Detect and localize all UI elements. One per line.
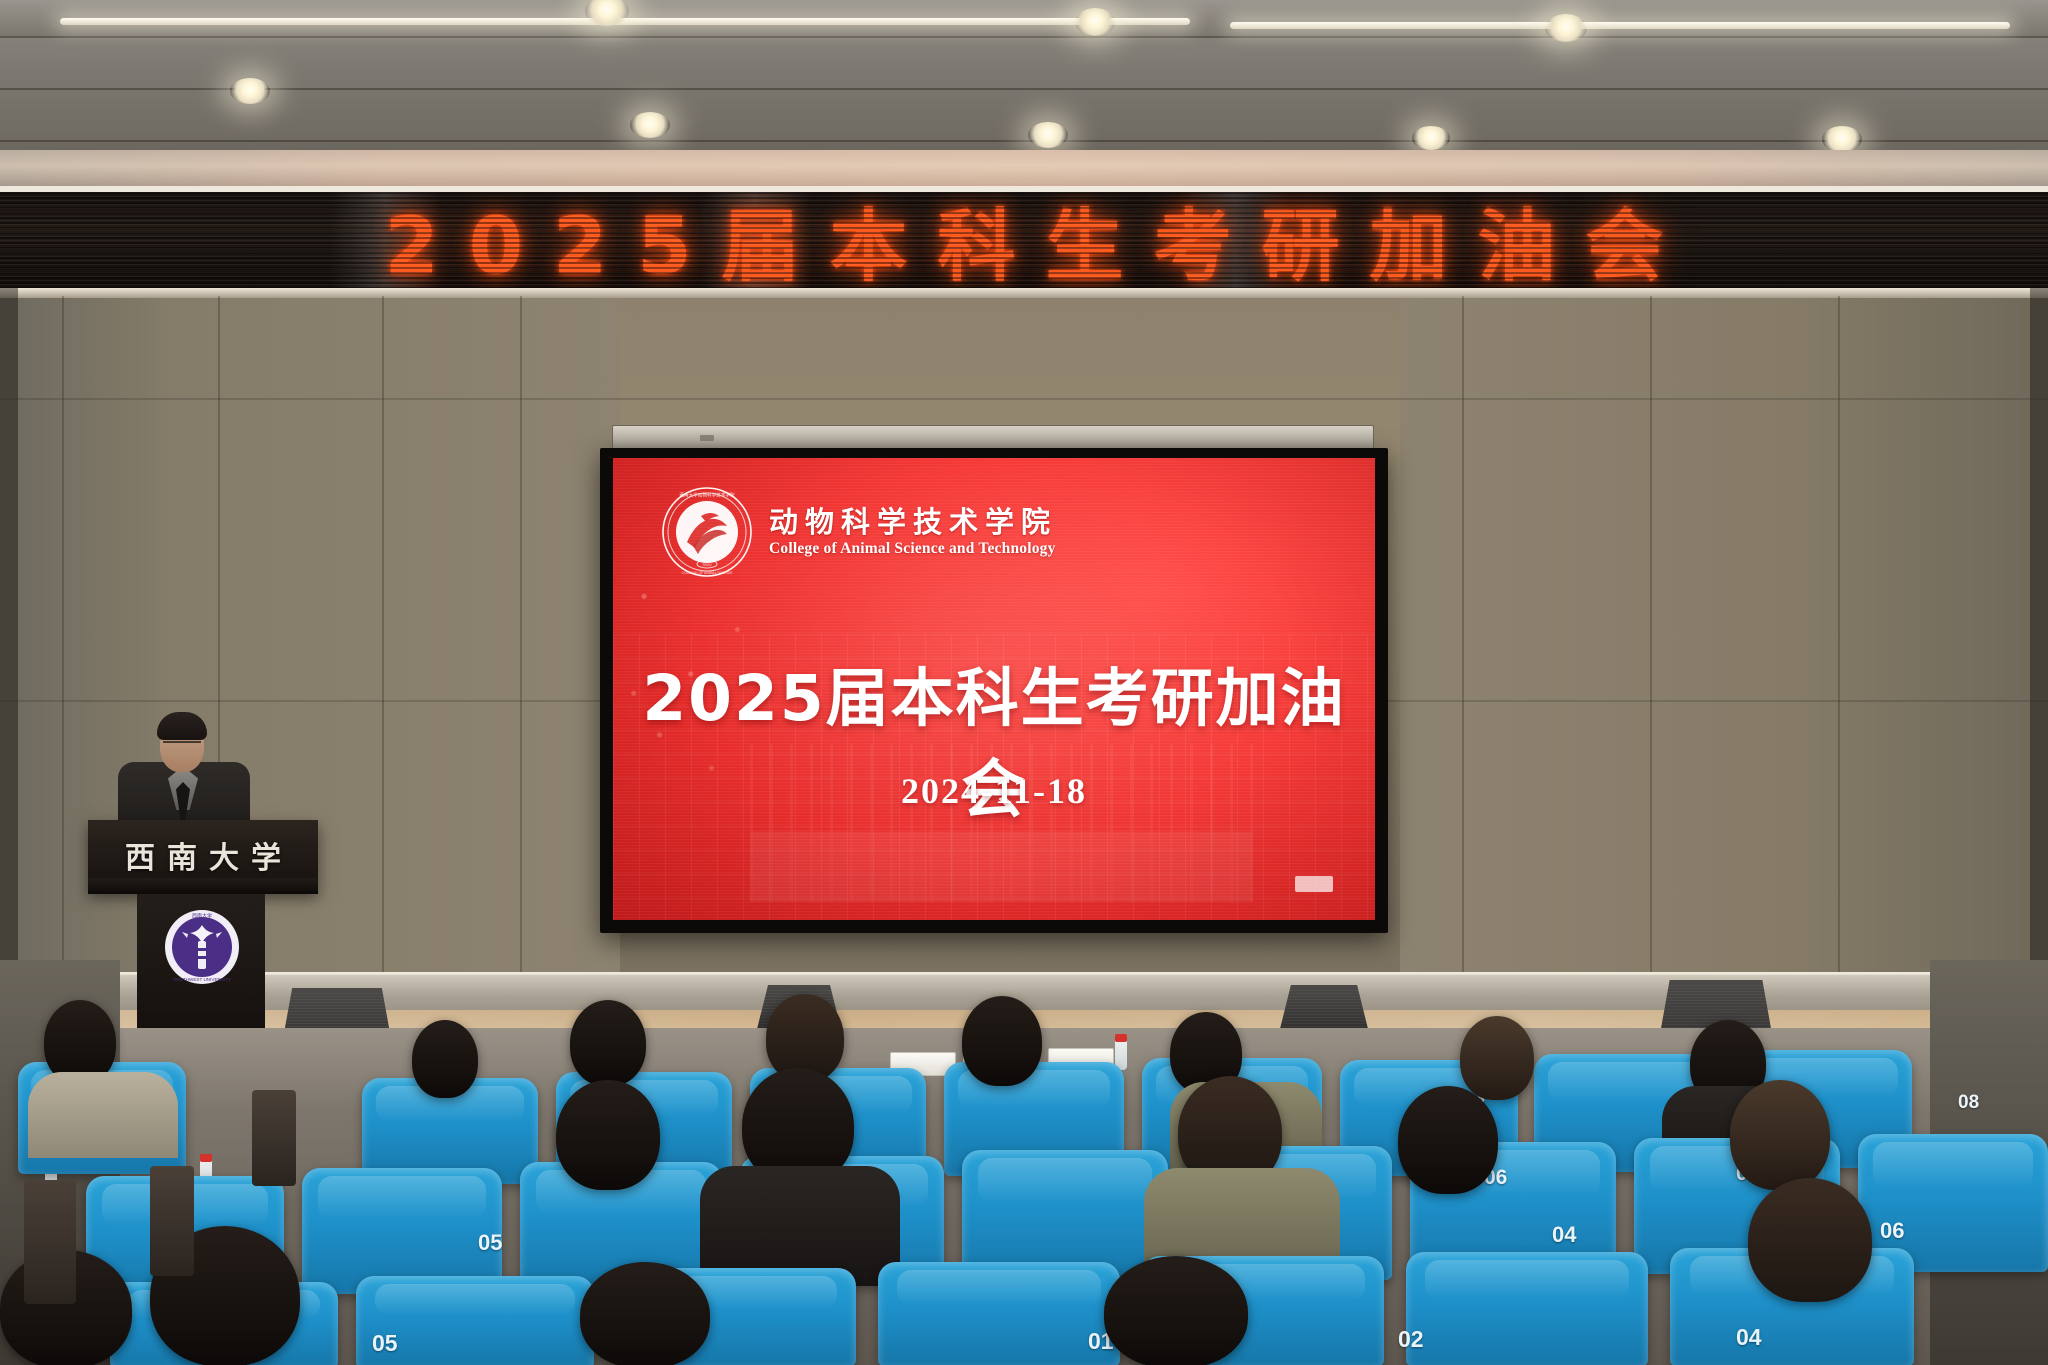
wall-edge-left [0,288,18,988]
audience-head [1398,1086,1498,1194]
seat-divider [150,1166,194,1276]
led-sheen-1 [330,192,440,288]
seat-divider [24,1180,76,1304]
slide-date: 2024-11-18 [613,770,1375,812]
led-scanlines [0,192,2048,288]
podium-top-face [88,878,318,894]
wall-h-line-1 [0,398,2048,400]
ceiling-seam-1 [0,36,2048,38]
svg-text:COLLEGE OF ANIMAL SCIENCE: COLLEGE OF ANIMAL SCIENCE [682,571,734,575]
university-seal-icon: 西南大学 SOUTHWEST UNIVERSITY [163,908,241,986]
audience-shoulders [28,1072,178,1158]
college-name-block: 动物科学技术学院 College of Animal Science and T… [769,508,1057,557]
speaker-hair [157,712,207,740]
soffit-led-glow [0,150,2048,190]
ceiling-light-strip-2 [1230,22,2010,29]
led-banner: 2025届本科生考研加油会 [0,192,2048,288]
seat-divider [252,1090,296,1186]
auditorium-photo: 2025届本科生考研加油会 [0,0,2048,1365]
wall-edge-right [2030,288,2048,988]
audience-head [1748,1178,1872,1302]
wall-top-trim [0,288,2048,298]
wall-h-line-2 [1388,700,2048,702]
ceiling-seam-2 [0,88,2048,90]
screen-housing-label [700,435,714,441]
seat-number: 06 [1880,1218,1904,1244]
seat-number: 05 [372,1330,398,1357]
ceiling-seam-3 [0,140,2048,142]
speaker-glasses [163,741,201,752]
slide-watermark [1295,876,1333,892]
audience-head [1730,1080,1830,1190]
seat-number: 04 [1736,1324,1762,1351]
audience-head [1460,1016,1534,1100]
seat[interactable] [878,1262,1120,1365]
audience-head [580,1262,710,1365]
audience-head [412,1020,478,1098]
wall-h-line-3 [0,700,600,702]
college-logo-block: SWU 西南大学动物科学技术学院 COLLEGE OF ANIMAL SCIEN… [661,486,1057,578]
ceiling-downlight-5 [630,112,670,138]
seat-number: 02 [1398,1326,1424,1353]
back-wall-right-section [1400,288,2048,988]
college-name-cn: 动物科学技术学院 [769,508,1057,537]
seat-number: 04 [1552,1222,1576,1248]
ceiling-downlight-8 [1412,126,1450,150]
svg-text:西南大学: 西南大学 [192,913,212,920]
projection-screen: SWU 西南大学动物科学技术学院 COLLEGE OF ANIMAL SCIEN… [613,458,1375,920]
led-sheen-2 [700,192,810,288]
ceiling-downlight-7 [1822,126,1862,152]
audience-head [1104,1256,1248,1365]
ceiling-downlight-2 [1075,8,1115,36]
college-name-en: College of Animal Science and Technology [769,541,1057,557]
seat[interactable] [1406,1252,1648,1365]
audience-head [556,1080,660,1190]
seat-number: 08 [1958,1092,1979,1114]
svg-text:SWU: SWU [702,562,711,567]
audience-head [570,1000,646,1086]
seat-number: 05 [478,1230,502,1256]
audience-head [962,996,1042,1086]
podium-university-name: 西南大学 [88,833,318,877]
college-crest-icon: SWU 西南大学动物科学技术学院 COLLEGE OF ANIMAL SCIEN… [661,486,753,578]
svg-text:西南大学动物科学技术学院: 西南大学动物科学技术学院 [679,492,735,499]
led-sheen-3 [1180,192,1290,288]
ceiling-downlight-4 [230,78,270,104]
ceiling-downlight-3 [1545,14,1587,42]
led-banner-text: 2025届本科生考研加油会 [0,192,2048,288]
ceiling-downlight-6 [1028,122,1068,148]
svg-text:SOUTHWEST UNIVERSITY: SOUTHWEST UNIVERSITY [173,977,231,982]
